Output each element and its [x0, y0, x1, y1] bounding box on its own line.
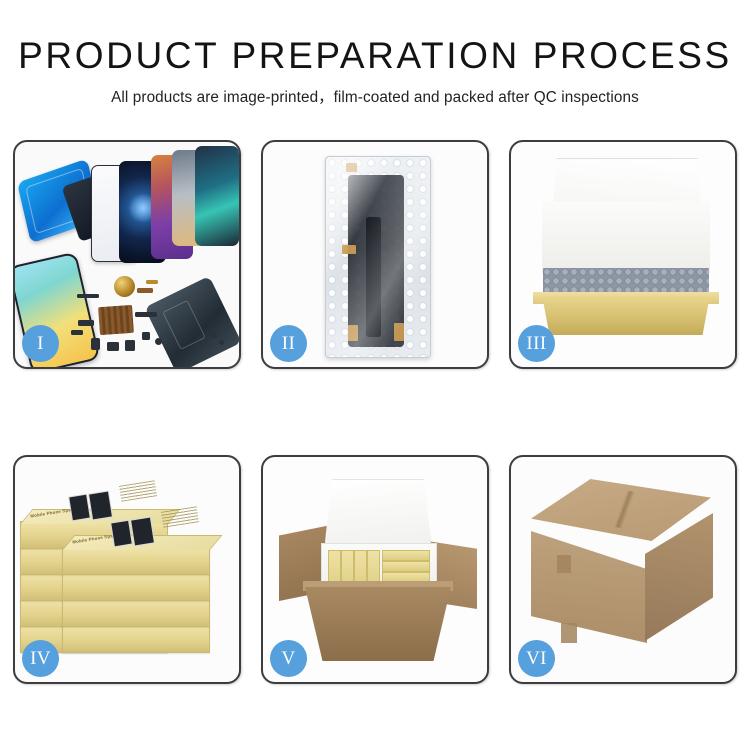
phone-back-housing	[144, 276, 239, 367]
kraft-box-in-foam	[382, 550, 430, 561]
step-badge-2: II	[270, 325, 307, 362]
component-chip	[155, 338, 162, 345]
component-chip	[78, 320, 94, 326]
kraft-box	[62, 547, 210, 575]
component-chip	[219, 340, 224, 345]
page-title: PRODUCT PREPARATION PROCESS	[0, 36, 750, 76]
component-chip	[146, 280, 158, 284]
circuit-board-part	[98, 305, 134, 335]
teal-gradient-phone	[195, 146, 239, 246]
foam-box-lid	[325, 479, 431, 549]
product-preparation-infographic: PRODUCT PREPARATION PROCESS All products…	[0, 0, 750, 750]
kraft-tray-front	[537, 297, 715, 335]
carton-body	[305, 587, 451, 661]
step-badge-5: V	[270, 640, 307, 677]
box-print-screen	[88, 491, 113, 521]
process-steps-grid: I II	[13, 140, 737, 684]
step-badge-3: III	[518, 325, 555, 362]
component-chip	[142, 332, 150, 340]
panel-step-5: V	[261, 455, 489, 684]
camera-lens-part	[114, 276, 135, 297]
step-badge-1: I	[22, 325, 59, 362]
panel-step-3: III	[509, 140, 737, 369]
component-chip	[137, 288, 153, 293]
carton-tape-patch	[561, 623, 577, 643]
panel-step-1: I	[13, 140, 241, 369]
box-print-screen	[110, 520, 133, 548]
page-subtitle: All products are image-printed，film-coat…	[0, 85, 750, 107]
carton-left-face	[531, 531, 647, 643]
tape-piece	[346, 163, 357, 172]
kraft-box-in-foam	[382, 561, 430, 572]
box-print-spec-lines	[119, 480, 157, 501]
kraft-box	[62, 625, 210, 653]
box-print-screen	[130, 517, 155, 547]
panel-step-6: VI	[509, 455, 737, 684]
component-chip	[107, 342, 119, 351]
panel-step-4: Mobile Phone Spare Parts Mobile Phone Sp…	[13, 455, 241, 684]
component-chip	[135, 312, 157, 317]
tape-piece	[342, 245, 356, 254]
tape-piece	[394, 323, 404, 341]
box-print-screen	[68, 494, 91, 522]
step-badge-6: VI	[518, 640, 555, 677]
header: PRODUCT PREPARATION PROCESS All products…	[0, 0, 750, 107]
bubble-wrap-bag	[325, 156, 431, 358]
panel-step-2: II	[261, 140, 489, 369]
foam-sheet	[542, 202, 710, 274]
carton-tape-patch	[557, 555, 571, 573]
kraft-box	[62, 599, 210, 627]
component-chip	[77, 294, 99, 298]
flex-cable	[366, 217, 381, 337]
component-chip	[71, 330, 83, 335]
component-chip	[91, 338, 100, 350]
component-chip	[211, 332, 217, 338]
tape-piece	[348, 325, 358, 341]
kraft-box	[62, 573, 210, 601]
component-chip	[125, 340, 135, 351]
step-badge-4: IV	[22, 640, 59, 677]
